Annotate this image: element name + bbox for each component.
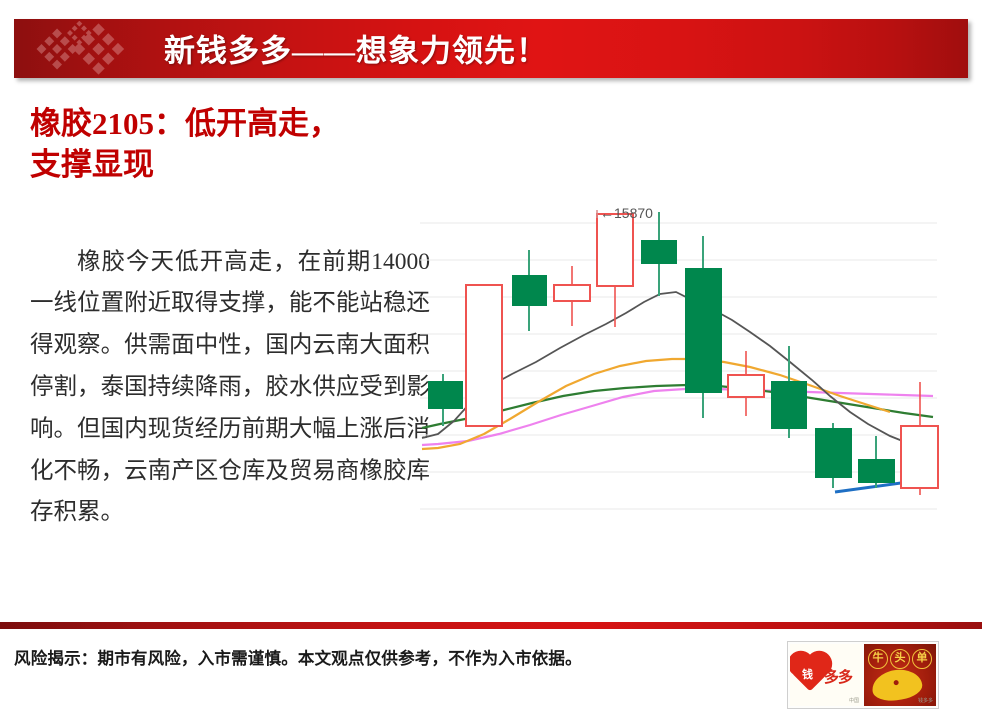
risk-disclaimer: 风险揭示：期市有风险，入市需谨慎。本文观点仅供参考，不作为入市依据。 xyxy=(14,645,582,669)
price-annotation: ←15870 xyxy=(597,205,653,221)
stamp-duoduo-label: 多多 xyxy=(824,666,852,687)
candlestick-chart: ←15870 xyxy=(420,196,965,526)
brand-stamps: 钱 多多 中国 牛 头 单 钱多多 xyxy=(787,641,939,709)
price-annotation-label: ←15870 xyxy=(600,205,653,221)
stamp-char-1: 牛 xyxy=(868,649,888,669)
page-title-line-1: 橡胶2105：低开高走， xyxy=(30,103,450,144)
candle-0 xyxy=(428,374,463,426)
candle-6 xyxy=(685,236,722,418)
candle-9 xyxy=(815,423,852,488)
header-banner: 新钱多多——想象力领先！ xyxy=(14,19,968,78)
stamp-left-mini-label: 中国 xyxy=(849,697,859,704)
candle-8 xyxy=(771,346,807,438)
page-title-line-2: 支撑显现 xyxy=(30,144,450,185)
candle-4 xyxy=(597,214,633,327)
candle-7 xyxy=(728,351,764,416)
stamp-right-mini-label: 钱多多 xyxy=(918,697,933,704)
candle-3 xyxy=(554,266,590,326)
bull-head-icon xyxy=(870,667,924,704)
candle-11 xyxy=(901,382,938,495)
body-paragraph: 橡胶今天低开高走，在前期14000一线位置附近取得支撑，能不能站稳还得观察。供需… xyxy=(30,242,430,535)
stamp-char-3: 单 xyxy=(912,649,932,669)
header-title: 新钱多多——想象力领先！ xyxy=(164,25,548,70)
stamp-niutoudan: 牛 头 单 钱多多 xyxy=(864,644,936,706)
candle-2 xyxy=(512,250,547,331)
stamp-qianduoduo: 钱 多多 中国 xyxy=(790,644,862,706)
stamp-heart-label: 钱 xyxy=(802,666,813,682)
chart-svg: ←15870 xyxy=(420,196,965,526)
diamond-lattice-logo xyxy=(36,21,156,77)
candle-series xyxy=(428,212,938,495)
page-title: 橡胶2105：低开高走， 支撑显现 xyxy=(30,103,450,185)
candle-10 xyxy=(858,436,895,488)
candle-5 xyxy=(641,212,677,296)
stamp-char-2: 头 xyxy=(890,649,910,669)
stamp-right-chars: 牛 头 单 xyxy=(868,649,932,669)
candle-1 xyxy=(466,285,502,426)
footer-divider xyxy=(0,622,982,629)
